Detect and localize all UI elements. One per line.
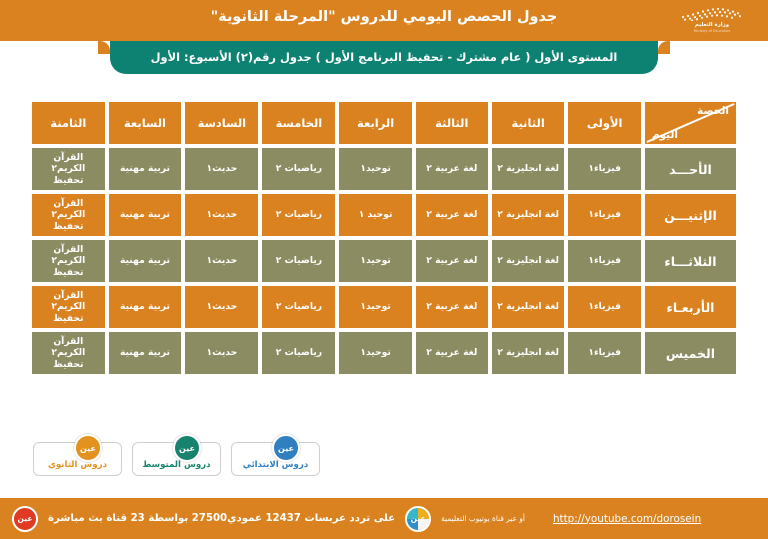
subject-cell: تربية مهنية — [109, 148, 182, 190]
corner-day-label: اليوم — [652, 129, 678, 141]
satellite-frequency-text: على تردد عربسات 12437 عمودي27500 بواسطة … — [48, 513, 395, 524]
schedule-table: الحصة اليوم الأولى الثانية الثالثة الراب… — [28, 98, 740, 378]
corner-header-cell: الحصة اليوم — [645, 102, 736, 144]
page-title: جدول الحصص اليومي للدروس "المرحلة الثانو… — [0, 9, 768, 25]
subject-cell: رياضيات ٢ — [262, 286, 335, 328]
ministry-of-education-logo: وزارة التعليم Ministry of Education — [672, 6, 752, 38]
day-name-cell: الأحـــد — [645, 148, 736, 190]
table-row: الأربعـاء فيزياء١ لغة انجليزية ٢ لغة عرب… — [32, 286, 736, 328]
subject-cell: فيزياء١ — [568, 194, 640, 236]
subject-cell: لغة عربية ٢ — [416, 286, 488, 328]
badge-secondary[interactable]: عين دروس الثانوي — [33, 442, 122, 476]
youtube-url-link[interactable]: http://youtube.com/dorosein — [553, 513, 701, 525]
day-name-cell: الخميس — [645, 332, 736, 374]
period-header-8: الثامنة — [32, 102, 105, 144]
subject-cell: لغة عربية ٢ — [416, 240, 488, 282]
ein-youtube-logo-icon: عين — [405, 506, 431, 532]
subject-cell: فيزياء١ — [568, 240, 640, 282]
subject-cell: حديث١ — [185, 148, 258, 190]
subject-cell: لغة عربية ٢ — [416, 194, 488, 236]
badge-label: دروس الثانوي — [48, 460, 107, 475]
subject-cell: لغة انجليزية ٢ — [492, 332, 565, 374]
table-row: الإثنيـــن فيزياء١ لغة انجليزية ٢ لغة عر… — [32, 194, 736, 236]
subject-cell: القرآن الكريم٢ تحفيظ — [32, 240, 105, 282]
subject-cell: رياضيات ٢ — [262, 240, 335, 282]
ministry-dots-icon — [679, 6, 745, 21]
program-badges: عين دروس الابتدائي عين دروس المتوسط عين … — [32, 436, 320, 476]
badge-elementary[interactable]: عين دروس الابتدائي — [231, 442, 320, 476]
subject-cell: فيزياء١ — [568, 332, 640, 374]
day-name-cell: الإثنيـــن — [645, 194, 736, 236]
subject-cell: توحيد١ — [339, 332, 411, 374]
table-row: الثلاثـــاء فيزياء١ لغة انجليزية ٢ لغة ع… — [32, 240, 736, 282]
subject-cell: حديث١ — [185, 194, 258, 236]
subject-cell: فيزياء١ — [568, 286, 640, 328]
subject-cell: لغة انجليزية ٢ — [492, 240, 565, 282]
subject-cell: تربية مهنية — [109, 332, 182, 374]
badge-label: دروس الابتدائي — [243, 460, 308, 475]
day-name-cell: الأربعـاء — [645, 286, 736, 328]
subject-cell: توحيد١ — [339, 148, 411, 190]
subject-cell: حديث١ — [185, 240, 258, 282]
header-bar: جدول الحصص اليومي للدروس "المرحلة الثانو… — [0, 0, 768, 41]
subtitle-text: المستوى الأول ( عام مشترك - تحفيظ البرنا… — [151, 50, 618, 66]
subject-cell: رياضيات ٢ — [262, 148, 335, 190]
table-header-row: الحصة اليوم الأولى الثانية الثالثة الراب… — [32, 102, 736, 144]
period-header-2: الثانية — [492, 102, 565, 144]
ein-satellite-logo-icon: عين — [12, 506, 38, 532]
period-header-3: الثالثة — [416, 102, 488, 144]
subject-cell: تربية مهنية — [109, 240, 182, 282]
badge-label: دروس المتوسط — [142, 460, 210, 475]
subject-cell: توحيد١ — [339, 240, 411, 282]
period-header-1: الأولى — [568, 102, 640, 144]
subject-cell: رياضيات ٢ — [262, 194, 335, 236]
badge-intermediate[interactable]: عين دروس المتوسط — [132, 442, 221, 476]
subtitle-banner-wrap: المستوى الأول ( عام مشترك - تحفيظ البرنا… — [0, 41, 768, 77]
corner-period-label: الحصة — [697, 105, 729, 117]
subject-cell: لغة انجليزية ٢ — [492, 148, 565, 190]
subject-cell: لغة انجليزية ٢ — [492, 194, 565, 236]
table-row: الخميس فيزياء١ لغة انجليزية ٢ لغة عربية … — [32, 332, 736, 374]
subject-cell: لغة انجليزية ٢ — [492, 286, 565, 328]
youtube-channel-text: أو عبر قناة يوتيوب التعليمية — [441, 514, 525, 523]
subject-cell: القرآن الكريم٢ تحفيظ — [32, 148, 105, 190]
ministry-logo-arabic: وزارة التعليم — [695, 22, 729, 28]
subject-cell: القرآن الكريم٢ تحفيظ — [32, 286, 105, 328]
subject-cell: حديث١ — [185, 286, 258, 328]
subject-cell: توحيد ١ — [339, 194, 411, 236]
subject-cell: القرآن الكريم٢ تحفيظ — [32, 332, 105, 374]
subject-cell: توحيد١ — [339, 286, 411, 328]
day-name-cell: الثلاثـــاء — [645, 240, 736, 282]
ein-logo-icon: عين — [272, 434, 300, 462]
period-header-6: السادسة — [185, 102, 258, 144]
subtitle-banner: المستوى الأول ( عام مشترك - تحفيظ البرنا… — [110, 41, 658, 74]
subject-cell: حديث١ — [185, 332, 258, 374]
subject-cell: لغة عربية ٢ — [416, 332, 488, 374]
period-header-4: الرابعة — [339, 102, 411, 144]
ein-youtube-logo-text: عين — [411, 514, 426, 523]
schedule-poster: جدول الحصص اليومي للدروس "المرحلة الثانو… — [0, 0, 768, 539]
subject-cell: تربية مهنية — [109, 286, 182, 328]
subject-cell: القرآن الكريم٢ تحفيظ — [32, 194, 105, 236]
ein-logo-icon: عين — [173, 434, 201, 462]
table-row: الأحـــد فيزياء١ لغة انجليزية ٢ لغة عربي… — [32, 148, 736, 190]
subject-cell: تربية مهنية — [109, 194, 182, 236]
period-header-5: الخامسة — [262, 102, 335, 144]
subject-cell: لغة عربية ٢ — [416, 148, 488, 190]
footer-bar: عين على تردد عربسات 12437 عمودي27500 بوا… — [0, 498, 768, 539]
subject-cell: رياضيات ٢ — [262, 332, 335, 374]
ein-logo-icon: عين — [74, 434, 102, 462]
period-header-7: السابعة — [109, 102, 182, 144]
ministry-logo-english: Ministry of Education — [694, 29, 731, 33]
subject-cell: فيزياء١ — [568, 148, 640, 190]
